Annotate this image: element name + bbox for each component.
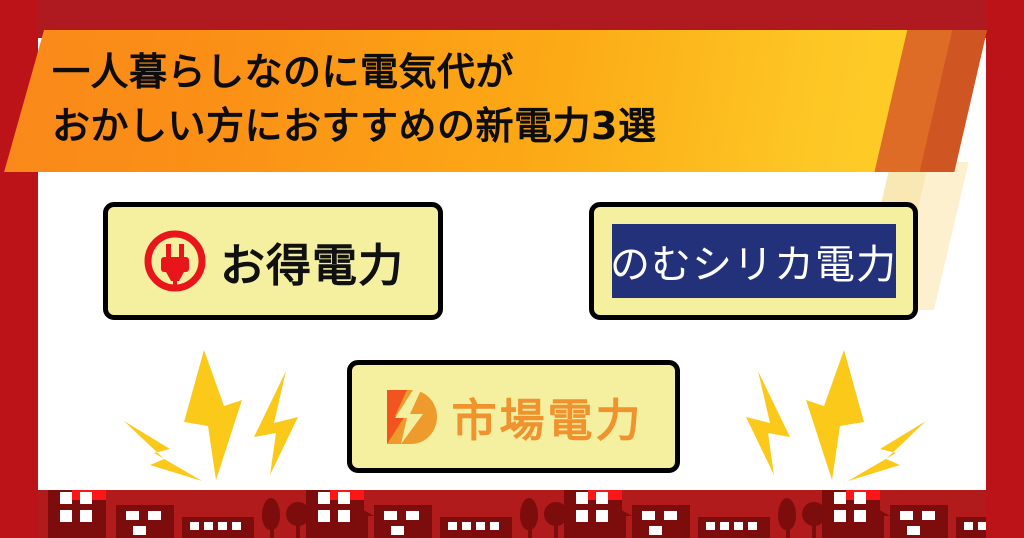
skyline-window: [642, 511, 655, 520]
skyline-window: [834, 492, 846, 504]
brand-card-shijo-denryoku[interactable]: 市場電力: [347, 360, 680, 473]
skyline-window: [978, 522, 986, 530]
skyline-unit: [554, 490, 812, 538]
skyline-window: [649, 526, 662, 535]
brand-card-nomu-silica-denryoku[interactable]: のむシリカ電力: [589, 202, 918, 320]
skyline-window: [576, 492, 588, 504]
skyline-window: [490, 522, 499, 530]
skyline-window: [391, 526, 404, 535]
skyline-window: [706, 522, 715, 530]
city-skyline: [38, 490, 986, 538]
skyline-window: [596, 492, 608, 504]
skyline-window: [204, 522, 213, 530]
promo-banner-image: 一人暮らしなのに電気代がおかしい方におすすめの新電力3選 お得電力: [0, 0, 1024, 538]
skyline-unit: [296, 490, 554, 538]
skyline-unit: [812, 490, 986, 538]
skyline-window: [133, 526, 146, 535]
skyline-window: [854, 510, 866, 522]
skyline-window: [318, 492, 330, 504]
skyline-window: [406, 511, 419, 520]
skyline-window: [218, 522, 227, 530]
skyline-window: [476, 522, 485, 530]
skyline-window: [80, 510, 92, 522]
power-plug-circle-icon: [142, 228, 208, 294]
skyline-window: [148, 511, 161, 520]
navy-panel: のむシリカ電力: [612, 224, 896, 298]
skyline-window: [907, 526, 920, 535]
lightning-bolt-left-medium: [252, 371, 300, 477]
lightning-d-mark-icon: [383, 388, 439, 446]
skyline-window: [126, 511, 139, 520]
skyline-window: [60, 510, 72, 522]
skyline-window: [900, 511, 913, 520]
lightning-bolt-right-small: [848, 421, 928, 483]
skyline-tree-trunk: [786, 526, 790, 538]
lightning-bolt-right-medium: [744, 371, 792, 477]
skyline-window: [338, 492, 350, 504]
skyline-window: [834, 510, 846, 522]
brand-name-shijo-denryoku: 市場電力: [451, 384, 643, 449]
skyline-window: [720, 522, 729, 530]
brand-row: 市場電力: [383, 384, 643, 449]
page-title: 一人暮らしなのに電気代がおかしい方におすすめの新電力3選: [52, 46, 882, 154]
skyline-window: [964, 522, 973, 530]
skyline-window: [854, 492, 866, 504]
skyline-window: [384, 511, 397, 520]
skyline-window: [748, 522, 757, 530]
brand-row: お得電力: [142, 228, 404, 294]
skyline-window: [596, 510, 608, 522]
skyline-window: [462, 522, 471, 530]
skyline-tree-trunk: [270, 526, 274, 538]
skyline-window: [232, 522, 241, 530]
skyline-window: [318, 510, 330, 522]
brand-card-otoku-denryoku[interactable]: お得電力: [103, 202, 443, 320]
skyline-window: [734, 522, 743, 530]
title-banner: 一人暮らしなのに電気代がおかしい方におすすめの新電力3選: [0, 30, 1024, 172]
skyline-window: [922, 511, 935, 520]
skyline-window: [448, 522, 457, 530]
brand-name-nomu-silica-denryoku: のむシリカ電力: [610, 232, 897, 290]
lightning-bolt-left-large: [180, 350, 246, 482]
title-line-2: おかしい方におすすめの新電力3選: [52, 104, 656, 148]
skyline-window: [664, 511, 677, 520]
skyline-window: [576, 510, 588, 522]
skyline-tree-trunk: [528, 526, 532, 538]
brand-name-otoku-denryoku: お得電力: [220, 229, 404, 294]
skyline-window: [80, 492, 92, 504]
skyline-unit: [38, 490, 296, 538]
title-line-1: 一人暮らしなのに電気代が: [52, 50, 514, 94]
skyline-window: [338, 510, 350, 522]
skyline-window: [60, 492, 72, 504]
skyline-window: [190, 522, 199, 530]
